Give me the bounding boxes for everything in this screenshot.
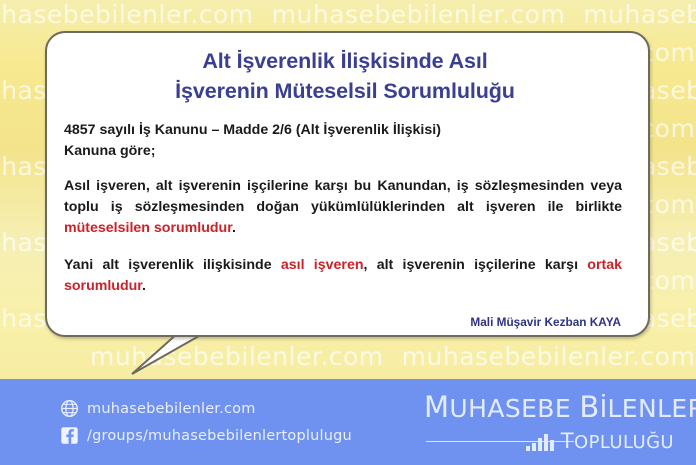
paragraph-main-highlight: müteselsilen sorumludur bbox=[64, 220, 232, 236]
watermark-text: muhasebebilenler.com bbox=[583, 0, 696, 29]
page-title: Alt İşverenlik İlişkisinde Asıl İşvereni… bbox=[64, 46, 626, 106]
paragraph-conclusion-text-2: , alt işverenin işçilerine karşı bbox=[364, 257, 588, 273]
watermark-text: muhasebebilenler.com bbox=[402, 342, 696, 371]
globe-icon bbox=[60, 399, 79, 418]
author-credit: Mali Müşavir Kezban KAYA bbox=[64, 315, 626, 329]
facebook-icon bbox=[60, 426, 79, 445]
paragraph-main-text-1: Asıl işveren, alt işverenin işçilerine k… bbox=[64, 178, 622, 215]
speech-bubble: Alt İşverenlik İlişkisinde Asıl İşvereni… bbox=[45, 31, 650, 337]
logo-line-2-wrap: TOPLULUĞU bbox=[424, 428, 674, 452]
paragraph-conclusion-text-1: Yani alt işverenlik ilişkisinde bbox=[64, 257, 281, 273]
poster-canvas: muhasebebilenler.commuhasebebilenler.com… bbox=[0, 0, 696, 465]
logo-line-2: TOPLULUĞU bbox=[561, 432, 674, 452]
facebook-row[interactable]: /groups/muhasebebilenlertoplulugu bbox=[60, 423, 352, 448]
paragraph-conclusion-highlight-1: asıl işveren bbox=[281, 257, 364, 273]
logo-word2-rest: İLENLER bbox=[600, 394, 696, 423]
paragraph-main: Asıl işveren, alt işverenin işçilerine k… bbox=[64, 176, 626, 239]
watermark-row: muhasebebilenler.commuhasebebilenler.com… bbox=[0, 338, 696, 376]
logo-line2-rest: OPLULUĞU bbox=[574, 432, 674, 453]
title-line-1: Alt İşverenlik İlişkisinde Asıl bbox=[70, 46, 620, 76]
law-reference-block: 4857 sayılı İş Kanunu – Madde 2/6 (Alt İ… bbox=[64, 120, 626, 161]
contact-block: muhasebebilenler.com /groups/muhasebebil… bbox=[60, 396, 352, 450]
bar-chart-icon bbox=[526, 434, 556, 451]
law-intro: Kanuna göre; bbox=[64, 141, 626, 162]
paragraph-conclusion-text-3: . bbox=[142, 278, 146, 294]
bubble-content: Alt İşverenlik İlişkisinde Asıl İşvereni… bbox=[47, 33, 648, 329]
logo-word1-rest: UHASEBE bbox=[449, 394, 571, 423]
watermark-row: muhasebebilenler.commuhasebebilenler.com… bbox=[0, 0, 696, 34]
facebook-label: /groups/muhasebebilenlertoplulugu bbox=[87, 428, 352, 444]
paragraph-main-text-2: . bbox=[232, 220, 236, 236]
brand-logo: MUHASEBE BİLENLER TOPLULUĞU bbox=[424, 393, 674, 452]
website-label: muhasebebilenler.com bbox=[87, 401, 256, 417]
footer-bar: muhasebebilenler.com /groups/muhasebebil… bbox=[0, 379, 696, 465]
watermark-text: muhasebebilenler.com bbox=[272, 0, 566, 29]
logo-word1-cap: M bbox=[424, 390, 449, 424]
logo-line-1: MUHASEBE BİLENLER bbox=[424, 393, 674, 423]
watermark-text: muhasebebilenler.com bbox=[0, 0, 254, 29]
law-reference: 4857 sayılı İş Kanunu – Madde 2/6 (Alt İ… bbox=[64, 120, 626, 141]
logo-word2-cap: B bbox=[579, 390, 599, 424]
logo-divider bbox=[426, 441, 574, 442]
title-line-2: İşverenin Müteselsil Sorumluluğu bbox=[70, 76, 620, 106]
website-row[interactable]: muhasebebilenler.com bbox=[60, 396, 352, 421]
paragraph-conclusion: Yani alt işverenlik ilişkisinde asıl işv… bbox=[64, 255, 626, 297]
